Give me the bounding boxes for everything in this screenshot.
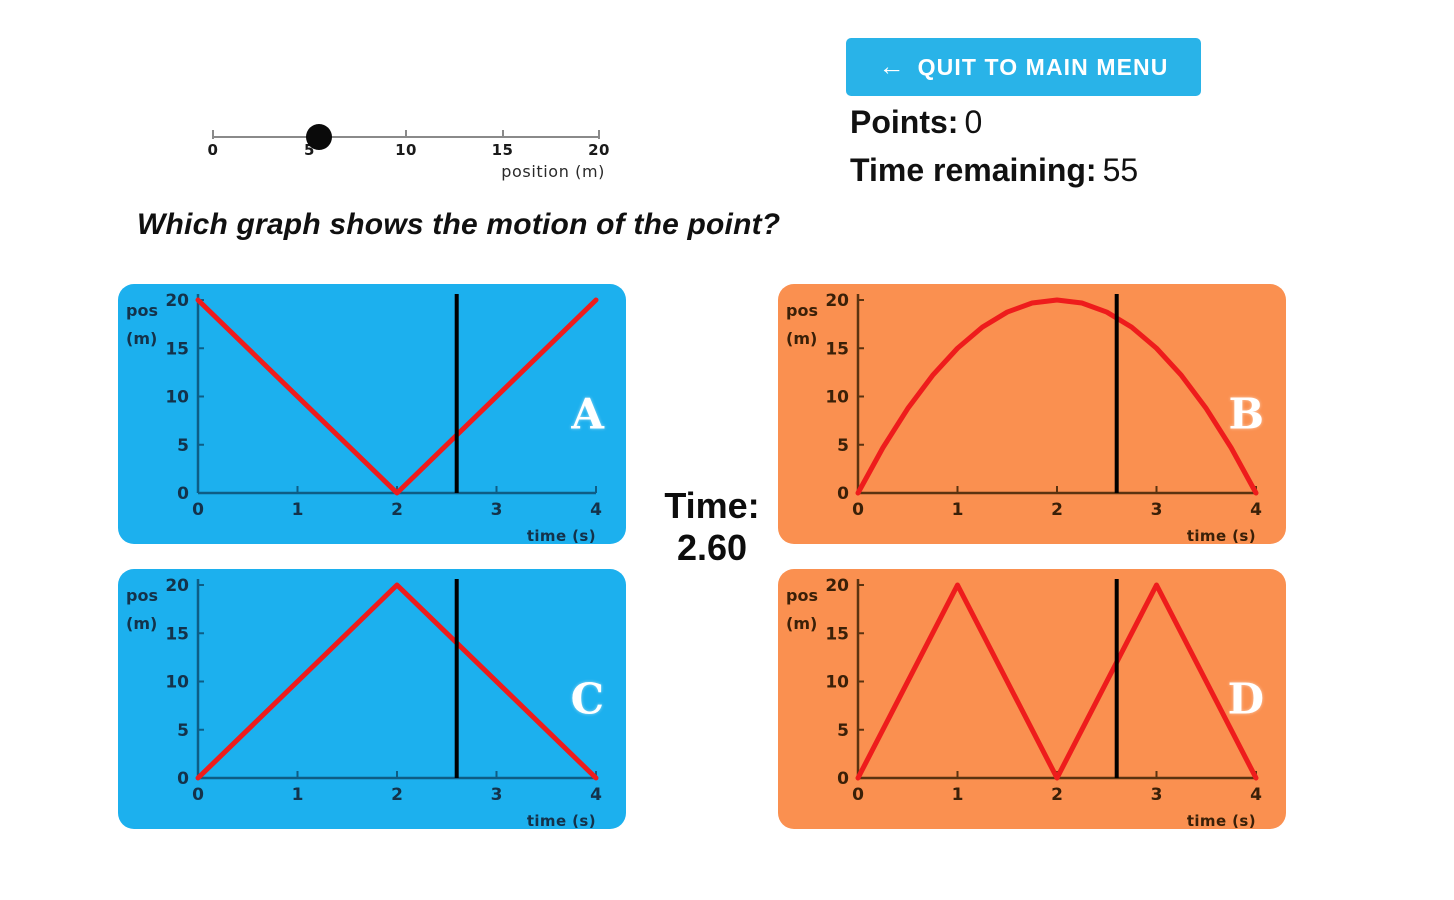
y-tick-label: 5 xyxy=(177,721,189,741)
x-tick-label: 2 xyxy=(1051,785,1063,805)
x-tick-label: 3 xyxy=(491,785,503,805)
y-tick-label: 0 xyxy=(837,769,849,789)
y-tick-label: 5 xyxy=(177,436,189,456)
time-remaining-label: Time remaining: xyxy=(850,152,1097,188)
points-label: Points: xyxy=(850,104,958,140)
y-tick-label: 20 xyxy=(825,291,849,311)
slider-tick-label: 10 xyxy=(395,141,417,159)
option-panel-a[interactable]: 0510152001234pos(m)time (s)A xyxy=(118,284,626,544)
slider-tick xyxy=(598,130,600,139)
y-tick-label: 20 xyxy=(825,576,849,596)
quit-button-label: QUIT TO MAIN MENU xyxy=(918,54,1169,81)
x-tick-label: 3 xyxy=(491,500,503,520)
y-tick-label: 0 xyxy=(177,484,189,504)
y-axis-label: pos xyxy=(126,301,158,320)
arrow-left-icon: ← xyxy=(879,53,906,79)
y-tick-label: 20 xyxy=(165,576,189,596)
y-axis-label: pos xyxy=(786,301,818,320)
x-tick-label: 1 xyxy=(952,785,964,805)
time-remaining-readout: Time remaining:55 xyxy=(850,152,1138,189)
y-axis-label: pos xyxy=(786,586,818,605)
x-tick-label: 1 xyxy=(292,785,304,805)
slider-tick xyxy=(502,130,504,138)
y-tick-label: 0 xyxy=(177,769,189,789)
y-tick-label: 15 xyxy=(165,624,189,644)
question-prompt: Which graph shows the motion of the poin… xyxy=(137,208,780,242)
y-tick-label: 10 xyxy=(825,388,849,408)
point-marker[interactable] xyxy=(306,124,332,150)
y-tick-label: 10 xyxy=(825,673,849,693)
position-slider[interactable]: 05101520 position (m) xyxy=(205,118,605,188)
y-tick-label: 20 xyxy=(165,291,189,311)
x-tick-label: 3 xyxy=(1151,500,1163,520)
x-tick-label: 4 xyxy=(590,785,602,805)
y-tick-label: 15 xyxy=(825,339,849,359)
y-tick-label: 15 xyxy=(165,339,189,359)
quit-to-main-menu-button[interactable]: ← QUIT TO MAIN MENU xyxy=(846,38,1201,96)
slider-tick xyxy=(405,130,407,138)
option-panel-d[interactable]: 0510152001234pos(m)time (s)D xyxy=(778,569,1286,829)
slider-axis-caption: position (m) xyxy=(501,162,605,181)
time-label: Time: xyxy=(634,487,790,525)
x-tick-label: 0 xyxy=(852,785,864,805)
slider-tick-label: 15 xyxy=(492,141,514,159)
position-curve xyxy=(858,585,1256,778)
chart-c: 0510152001234pos(m)time (s) xyxy=(118,569,626,829)
x-tick-label: 2 xyxy=(391,785,403,805)
position-curve xyxy=(858,300,1256,493)
y-tick-label: 15 xyxy=(825,624,849,644)
x-axis-label: time (s) xyxy=(527,527,596,544)
y-tick-label: 10 xyxy=(165,673,189,693)
x-tick-label: 0 xyxy=(192,785,204,805)
time-value: 2.60 xyxy=(634,525,790,570)
chart-d: 0510152001234pos(m)time (s) xyxy=(778,569,1286,829)
slider-tick xyxy=(212,130,214,139)
x-tick-label: 0 xyxy=(852,500,864,520)
y-axis-label: pos xyxy=(126,586,158,605)
slider-tick-label: 20 xyxy=(588,141,610,159)
slider-tick-label: 0 xyxy=(208,141,219,159)
x-axis-label: time (s) xyxy=(1187,527,1256,544)
x-tick-label: 2 xyxy=(391,500,403,520)
x-axis-label: time (s) xyxy=(1187,812,1256,829)
points-readout: Points:0 xyxy=(850,104,982,141)
current-time-readout: Time: 2.60 xyxy=(634,487,790,570)
chart-b: 0510152001234pos(m)time (s) xyxy=(778,284,1286,544)
y-tick-label: 10 xyxy=(165,388,189,408)
x-tick-label: 3 xyxy=(1151,785,1163,805)
y-tick-label: 5 xyxy=(837,721,849,741)
chart-a: 0510152001234pos(m)time (s) xyxy=(118,284,626,544)
x-tick-label: 4 xyxy=(590,500,602,520)
position-curve xyxy=(198,585,596,778)
position-curve xyxy=(198,300,596,493)
y-axis-label: (m) xyxy=(786,614,817,633)
x-tick-label: 1 xyxy=(292,500,304,520)
y-axis-label: (m) xyxy=(126,614,157,633)
x-tick-label: 4 xyxy=(1250,785,1262,805)
x-tick-label: 1 xyxy=(952,500,964,520)
y-axis-label: (m) xyxy=(786,329,817,348)
x-axis-label: time (s) xyxy=(527,812,596,829)
y-tick-label: 5 xyxy=(837,436,849,456)
x-tick-label: 4 xyxy=(1250,500,1262,520)
y-axis-label: (m) xyxy=(126,329,157,348)
option-panel-c[interactable]: 0510152001234pos(m)time (s)C xyxy=(118,569,626,829)
time-remaining-value: 55 xyxy=(1103,152,1139,188)
points-value: 0 xyxy=(964,104,982,140)
option-panel-b[interactable]: 0510152001234pos(m)time (s)B xyxy=(778,284,1286,544)
x-tick-label: 0 xyxy=(192,500,204,520)
y-tick-label: 0 xyxy=(837,484,849,504)
x-tick-label: 2 xyxy=(1051,500,1063,520)
